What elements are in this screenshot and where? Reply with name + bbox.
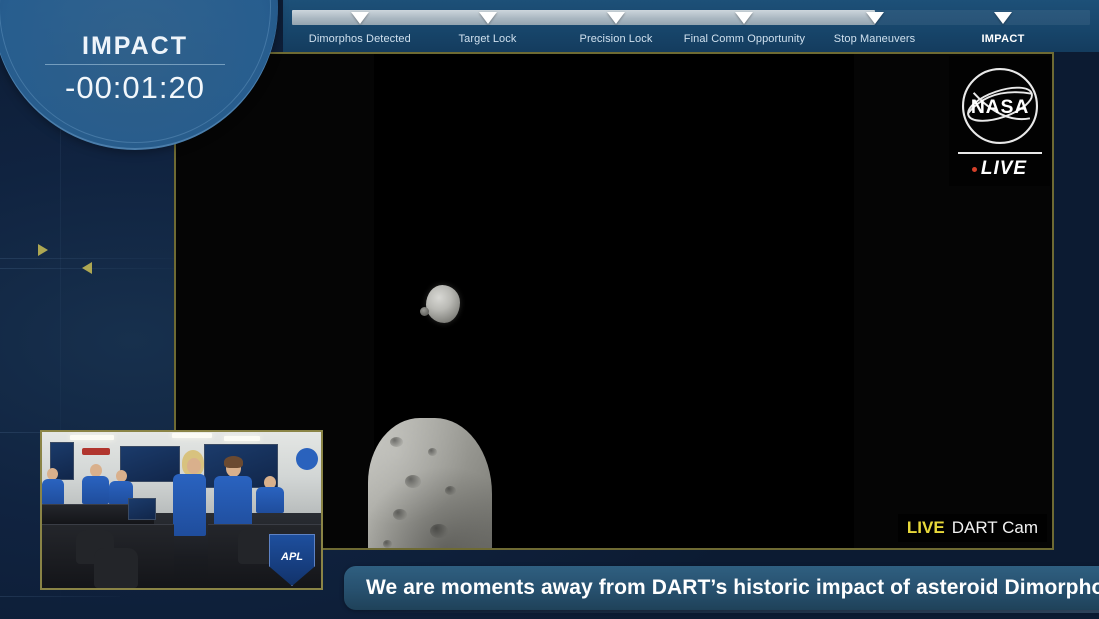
timeline-label-5[interactable]: IMPACT	[981, 33, 1024, 45]
dartcam-live-label: LIVE	[907, 518, 945, 538]
caption-banner: We are moments away from DART’s historic…	[344, 566, 1099, 610]
timeline-label-4[interactable]: Stop Maneuvers	[834, 33, 916, 45]
pip-wall-decor	[82, 448, 110, 455]
countdown-timer: -00:01:20	[0, 70, 278, 106]
timeline-progress-fill	[292, 10, 875, 25]
pip-desk-monitor	[128, 498, 156, 520]
pip-person-hair	[224, 456, 243, 468]
timeline-label-2[interactable]: Precision Lock	[580, 33, 653, 45]
nasa-live-label: LIVE	[981, 158, 1027, 180]
timeline-label-0[interactable]: Dimorphos Detected	[309, 33, 411, 45]
dartcam-badge: LIVE DART Cam	[898, 514, 1047, 542]
caption-underline	[344, 610, 1099, 613]
caption-text: We are moments away from DART’s historic…	[344, 576, 1099, 600]
crater	[393, 509, 407, 520]
pip-nasa-wall-logo	[296, 448, 318, 470]
crater	[405, 475, 421, 488]
pip-person	[82, 476, 109, 504]
pip-person-head	[187, 458, 201, 474]
pip-wall-monitor	[120, 446, 180, 482]
nasa-logo-block: NASA LIVE	[949, 56, 1050, 186]
timeline-marker-4[interactable]	[866, 12, 884, 24]
timeline-marker-2[interactable]	[607, 12, 625, 24]
crater	[390, 437, 403, 447]
mission-timeline: Dimorphos DetectedTarget LockPrecision L…	[283, 0, 1099, 52]
pip-person-foreground	[173, 474, 206, 536]
asteroid-dimorphos	[426, 285, 460, 323]
crater	[428, 448, 437, 456]
live-dot-icon	[972, 167, 977, 172]
accent-triangle-icon	[82, 262, 92, 274]
countdown-divider	[45, 64, 225, 65]
background-rule	[0, 258, 175, 259]
pip-chair	[94, 548, 138, 588]
pip-person	[256, 487, 284, 513]
svg-text:NASA: NASA	[970, 96, 1028, 118]
timeline-marker-5[interactable]	[994, 12, 1012, 24]
timeline-marker-0[interactable]	[351, 12, 369, 24]
timeline-track[interactable]	[292, 10, 1090, 25]
asteroid-dimorphos-lobe	[420, 307, 429, 316]
timeline-marker-1[interactable]	[479, 12, 497, 24]
crater	[445, 486, 456, 495]
pip-ceiling-light	[172, 433, 212, 438]
apl-logo-text: APL	[281, 551, 303, 563]
countdown-title: IMPACT	[0, 32, 278, 61]
timeline-marker-3[interactable]	[735, 12, 753, 24]
pip-ceiling-light	[70, 435, 114, 440]
nasa-divider	[958, 152, 1042, 154]
crater	[430, 524, 448, 538]
dartcam-camera-label: DART Cam	[952, 518, 1038, 538]
pip-person	[42, 479, 64, 505]
nasa-live-badge: LIVE	[949, 158, 1050, 180]
pip-ceiling-light	[224, 436, 260, 441]
timeline-label-3[interactable]: Final Comm Opportunity	[684, 33, 805, 45]
asteroid-didymos	[368, 418, 492, 550]
timeline-label-1[interactable]: Target Lock	[459, 33, 517, 45]
mission-control-pip[interactable]: APL	[40, 430, 323, 590]
nasa-meatball-icon: NASA	[956, 62, 1044, 150]
crater	[383, 540, 392, 548]
accent-triangle-icon	[38, 244, 48, 256]
